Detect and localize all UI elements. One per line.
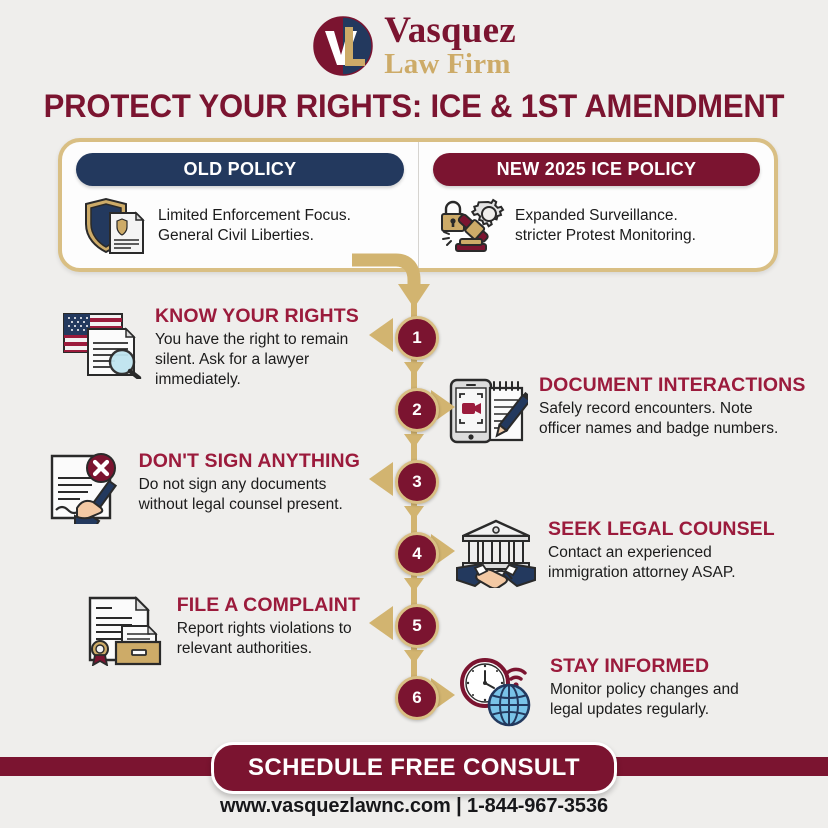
old-policy-text: Limited Enforcement Focus. General Civil… xyxy=(158,206,351,247)
step-text-3: DON'T SIGN ANYTHING Do not sign any docu… xyxy=(139,450,360,515)
step-badge-3: 3 xyxy=(395,460,439,504)
step-desc-3: Do not sign any documents without legal … xyxy=(139,475,360,515)
document-x-hand-pen-icon xyxy=(44,450,128,529)
old-policy-line-2: General Civil Liberties. xyxy=(158,226,351,246)
brand-wordmark: Vasquez Law Firm xyxy=(384,12,516,79)
step-title-4: SEEK LEGAL COUNSEL xyxy=(548,519,775,540)
new-policy-line-2: stricter Protest Monitoring. xyxy=(515,226,696,246)
step-item-1: KNOW YOUR RIGHTS You have the right to r… xyxy=(60,305,360,390)
schedule-consult-button[interactable]: SCHEDULE FREE CONSULT xyxy=(211,742,617,794)
step-badge-1: 1 xyxy=(395,316,439,360)
complaint-folder-seal-icon xyxy=(82,594,166,671)
spine-arrow-2 xyxy=(404,434,424,448)
step-pointer-3 xyxy=(369,462,393,496)
old-policy-line-1: Limited Enforcement Focus. xyxy=(158,206,351,226)
contact-info[interactable]: www.vasquezlawnc.com | 1-844-967-3536 xyxy=(0,795,828,818)
step-item-2: DOCUMENT INTERACTIONS Safely record enco… xyxy=(448,374,798,451)
step-item-4: SEEK LEGAL COUNSEL Contact an experience… xyxy=(455,518,805,593)
step-text-2: DOCUMENT INTERACTIONS Safely record enco… xyxy=(539,374,805,439)
flag-document-magnifier-icon xyxy=(60,305,144,384)
step-badge-6: 6 xyxy=(395,676,439,720)
step-title-3: DON'T SIGN ANYTHING xyxy=(139,451,360,472)
step-desc-6-line-2: legal updates regularly. xyxy=(550,700,739,720)
new-policy-line-1: Expanded Surveillance. xyxy=(515,206,696,226)
phone-notepad-pen-icon xyxy=(448,374,528,451)
vl-monogram-icon xyxy=(312,15,374,77)
step-pointer-1 xyxy=(369,318,393,352)
step-title-5: FILE A COMPLAINT xyxy=(177,595,360,616)
old-policy-column: OLD POLICY xyxy=(62,142,418,268)
lock-gavel-gear-icon xyxy=(433,196,505,256)
step-desc-1-line-2: silent. Ask for a lawyer immediately. xyxy=(155,350,360,390)
brand-subtitle: Law Firm xyxy=(384,50,516,79)
new-policy-pill: NEW 2025 ICE POLICY xyxy=(433,153,760,186)
step-desc-1: You have the right to remain silent. Ask… xyxy=(155,330,360,389)
brand-logo: Vasquez Law Firm xyxy=(0,12,828,79)
step-title-6: STAY INFORMED xyxy=(550,656,739,677)
spine-arrow-4 xyxy=(404,578,424,592)
curved-connector-arrow xyxy=(350,252,470,312)
step-text-1: KNOW YOUR RIGHTS You have the right to r… xyxy=(155,305,360,390)
courthouse-handshake-icon xyxy=(455,518,537,593)
step-desc-2: Safely record encounters. Note officer n… xyxy=(539,399,805,439)
step-desc-6-line-1: Monitor policy changes and xyxy=(550,680,739,700)
infographic-page: Vasquez Law Firm PROTECT YOUR RIGHTS: IC… xyxy=(0,0,828,828)
spine-arrow-5 xyxy=(404,650,424,664)
step-pointer-5 xyxy=(369,606,393,640)
new-policy-column: NEW 2025 ICE POLICY xyxy=(418,142,774,268)
step-desc-4: Contact an experienced immigration attor… xyxy=(548,543,775,583)
step-text-5: FILE A COMPLAINT Report rights violation… xyxy=(177,594,360,659)
new-policy-text: Expanded Surveillance. stricter Protest … xyxy=(515,206,696,247)
step-desc-5-line-2: relevant authorities. xyxy=(177,639,360,659)
step-title-1: KNOW YOUR RIGHTS xyxy=(155,306,360,327)
step-title-2: DOCUMENT INTERACTIONS xyxy=(539,375,805,396)
step-badge-4: 4 xyxy=(395,532,439,576)
step-desc-4-line-2: immigration attorney ASAP. xyxy=(548,563,775,583)
step-item-5: FILE A COMPLAINT Report rights violation… xyxy=(60,594,360,671)
brand-name: Vasquez xyxy=(384,12,516,49)
spine-arrow-1 xyxy=(404,362,424,376)
step-desc-3-line-2: without legal counsel present. xyxy=(139,495,360,515)
step-text-4: SEEK LEGAL COUNSEL Contact an experience… xyxy=(548,518,775,583)
page-title: PROTECT YOUR RIGHTS: ICE & 1ST AMENDMENT xyxy=(12,88,815,125)
step-desc-1-line-1: You have the right to remain xyxy=(155,330,360,350)
step-badge-2: 2 xyxy=(395,388,439,432)
step-desc-4-line-1: Contact an experienced xyxy=(548,543,775,563)
step-desc-5: Report rights violations to relevant aut… xyxy=(177,619,360,659)
shield-document-icon xyxy=(76,196,148,256)
step-item-3: DON'T SIGN ANYTHING Do not sign any docu… xyxy=(60,450,360,529)
old-policy-pill: OLD POLICY xyxy=(76,153,404,186)
step-item-6: STAY INFORMED Monitor policy changes and… xyxy=(455,655,805,732)
step-desc-2-line-2: officer names and badge numbers. xyxy=(539,419,805,439)
step-desc-5-line-1: Report rights violations to xyxy=(177,619,360,639)
step-text-6: STAY INFORMED Monitor policy changes and… xyxy=(550,655,739,720)
clock-globe-signal-icon xyxy=(455,655,539,732)
spine-arrow-3 xyxy=(404,506,424,520)
step-badge-5: 5 xyxy=(395,604,439,648)
step-desc-3-line-1: Do not sign any documents xyxy=(139,475,360,495)
step-desc-6: Monitor policy changes and legal updates… xyxy=(550,680,739,720)
step-desc-2-line-1: Safely record encounters. Note xyxy=(539,399,805,419)
